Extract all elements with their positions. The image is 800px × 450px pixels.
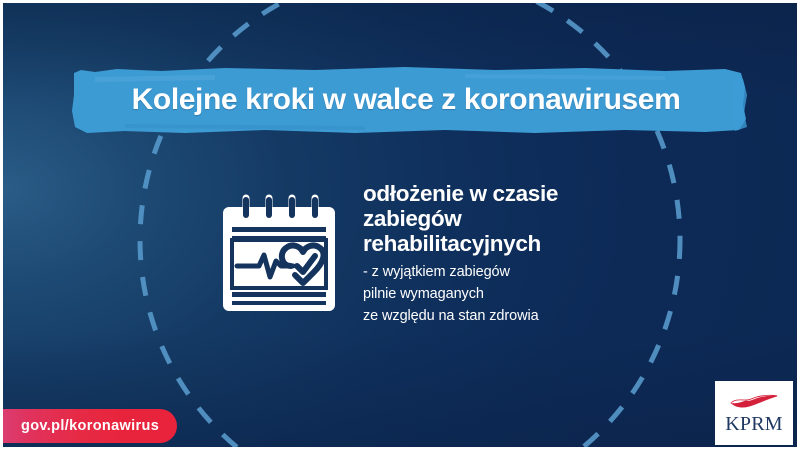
headline-line-1: odłożenie w czasie bbox=[363, 181, 558, 206]
poster-canvas: Kolejne kroki w walce z koronawirusem bbox=[0, 0, 800, 450]
subtext-line-3: ze względu na stan zdrowia bbox=[363, 305, 663, 327]
kprm-wordmark: KPRM bbox=[725, 414, 783, 434]
polish-flag-wave-icon bbox=[728, 393, 780, 413]
title-banner: Kolejne kroki w walce z koronawirusem bbox=[71, 69, 741, 131]
url-badge[interactable]: gov.pl/koronawirus bbox=[0, 409, 177, 443]
url-badge-label: gov.pl/koronawirus bbox=[21, 418, 159, 434]
subtext-line-1: - z wyjątkiem zabiegów bbox=[363, 261, 663, 283]
headline: odłożenie w czasie zabiegów rehabilitacy… bbox=[363, 181, 663, 256]
subtext-line-2: pilnie wymaganych bbox=[363, 283, 663, 305]
poster-title: Kolejne kroki w walce z koronawirusem bbox=[71, 69, 741, 131]
message-text-block: odłożenie w czasie zabiegów rehabilitacy… bbox=[363, 181, 663, 327]
subtext: - z wyjątkiem zabiegów pilnie wymaganych… bbox=[363, 261, 663, 327]
calendar-heartbeat-icon bbox=[215, 193, 343, 319]
kprm-logo: KPRM bbox=[715, 381, 793, 445]
headline-line-2: zabiegów bbox=[363, 206, 461, 231]
main-content: odłożenie w czasie zabiegów rehabilitacy… bbox=[3, 181, 800, 341]
headline-line-3: rehabilitacyjnych bbox=[363, 231, 541, 256]
